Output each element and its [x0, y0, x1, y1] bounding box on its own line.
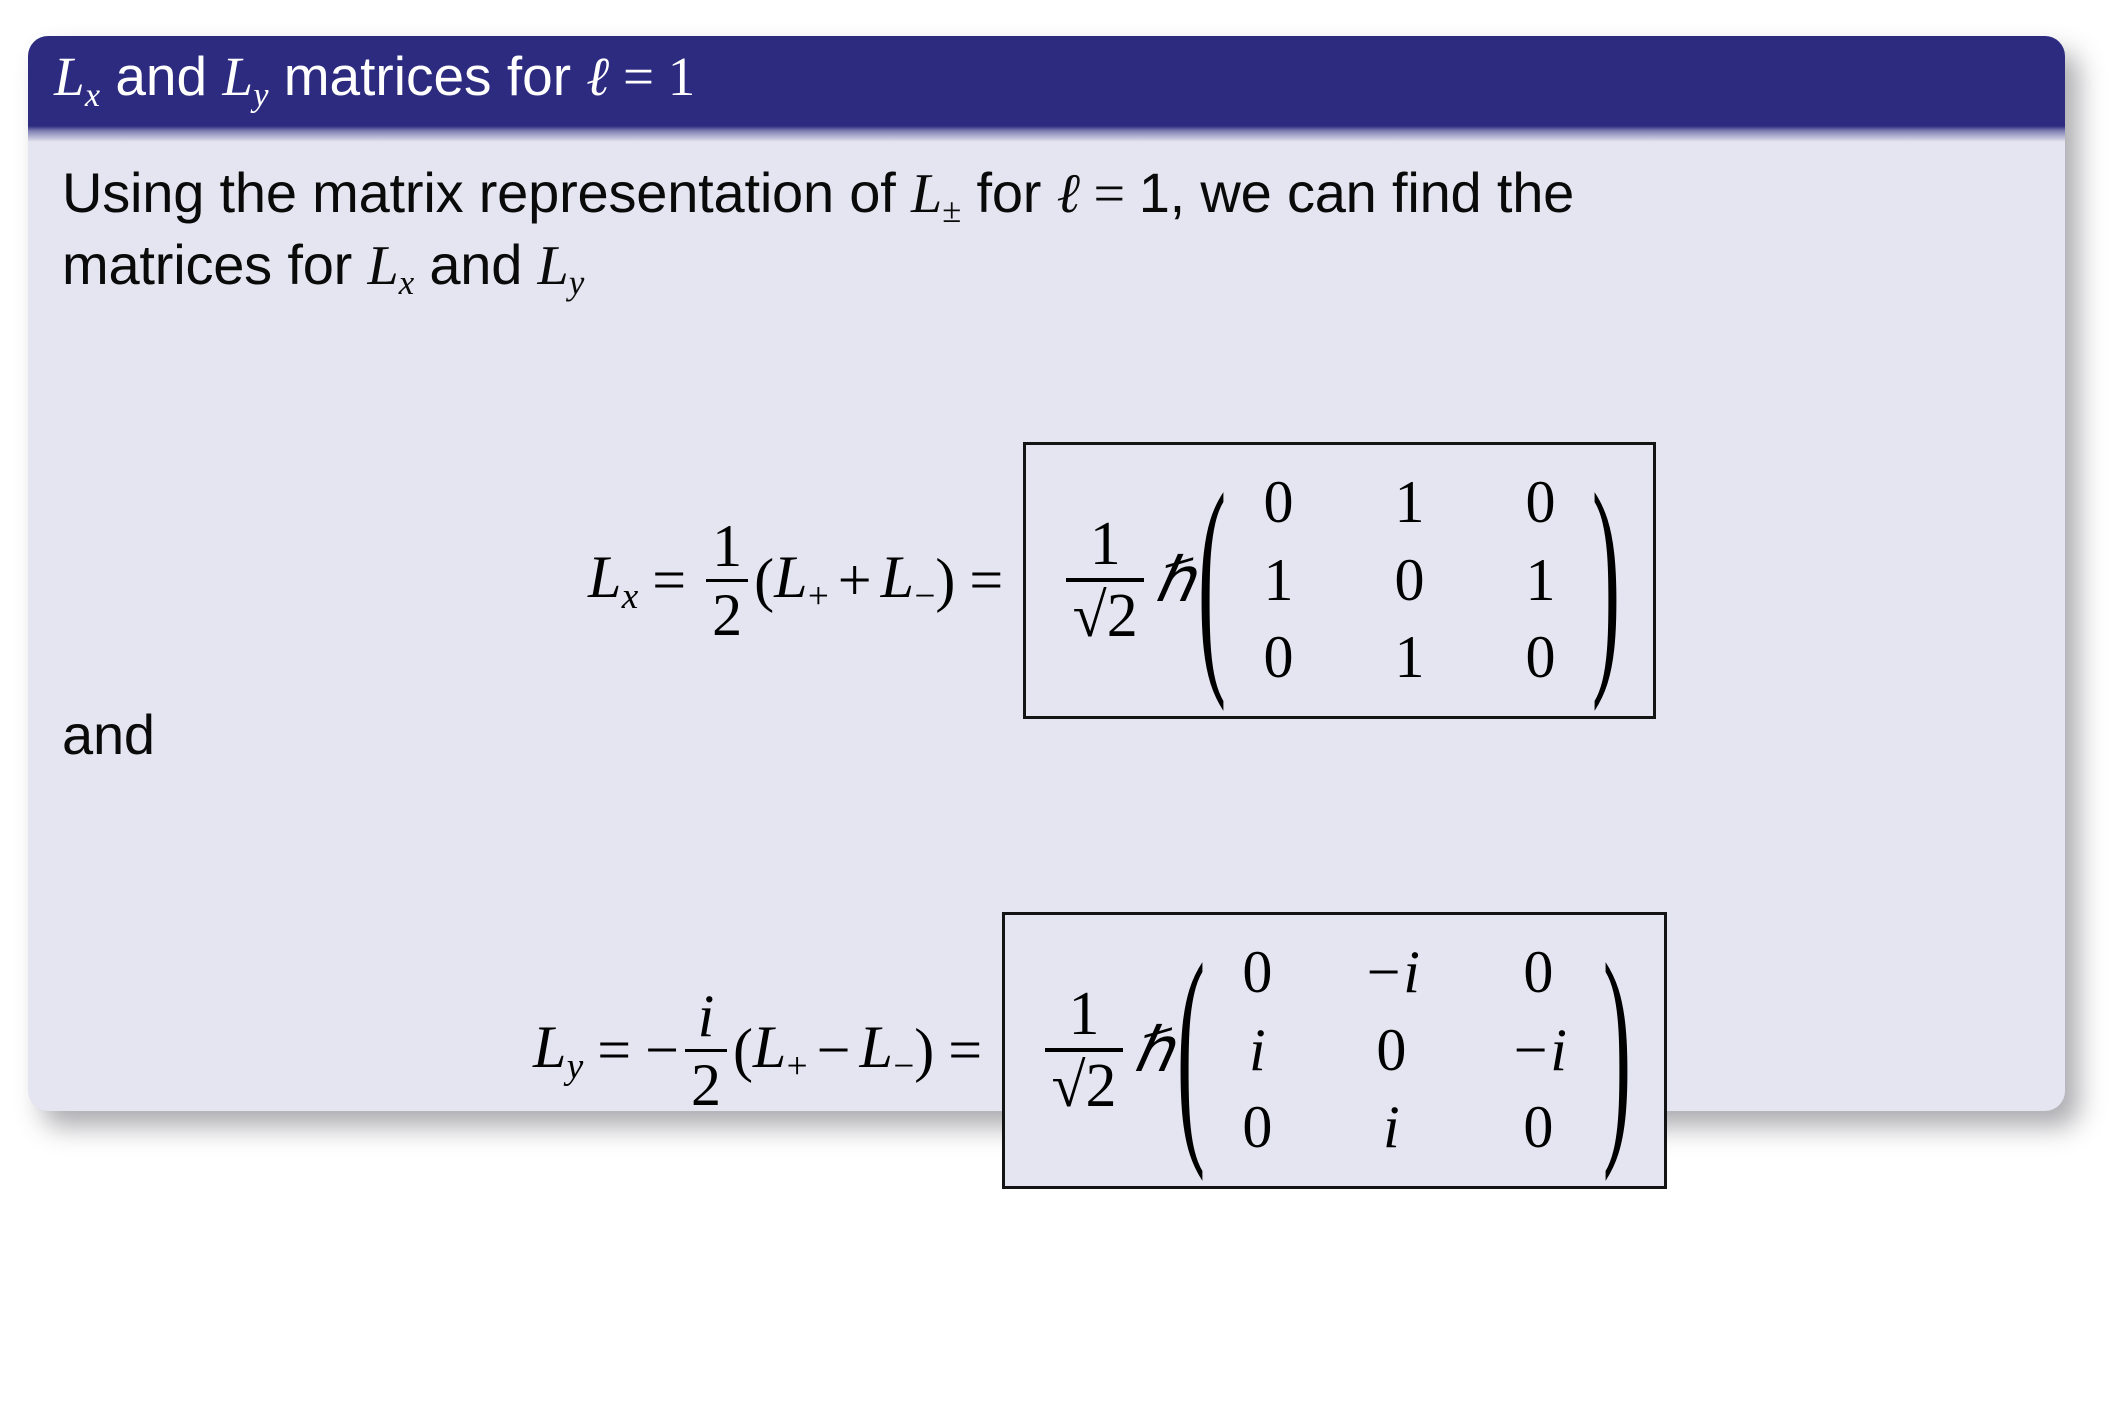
- ly-cell-r2c3: −i: [1486, 1019, 1590, 1083]
- lx-cell-r1c3: 0: [1501, 471, 1579, 535]
- lx-equals-2: =: [969, 546, 1003, 615]
- ly-L-plus: L+: [753, 1013, 808, 1088]
- lx-matrix-grid: 0 1 0 1 0 1 0 1 0: [1239, 471, 1579, 690]
- intro-text-part1: Using the matrix representation of: [62, 161, 911, 224]
- ly-frac-denominator: 2: [685, 1052, 727, 1115]
- intro-line2-and: and: [414, 233, 538, 296]
- lx-cell-r1c2: 1: [1361, 471, 1457, 535]
- lx-equals-1: =: [652, 546, 686, 615]
- intro-L-pm: L±: [911, 163, 961, 225]
- intro-equals: =: [1080, 163, 1139, 225]
- lx-cell-r1c1: 0: [1239, 471, 1317, 535]
- ly-matrix-right-paren: ): [1602, 684, 1633, 1417]
- ly-cell-r2c2: 0: [1336, 1019, 1446, 1083]
- ly-cell-r3c1: 0: [1218, 1096, 1296, 1160]
- ly-box-frac-denominator: √2: [1046, 1052, 1123, 1117]
- title-L-x: Lx: [54, 46, 100, 107]
- ly-close-paren: ): [914, 1016, 934, 1085]
- ly-L-minus: L−: [859, 1013, 914, 1088]
- ly-frac-numerator: i: [692, 986, 721, 1049]
- ly-box-frac-numerator: 1: [1063, 983, 1106, 1048]
- title-value-one: 1: [668, 46, 696, 107]
- lx-L-minus: L−: [881, 543, 936, 618]
- title-L-y: Ly: [222, 46, 268, 107]
- lx-cell-r3c2: 1: [1361, 626, 1457, 690]
- lx-close-paren: ): [935, 546, 955, 615]
- lx-L-plus: L+: [774, 543, 829, 618]
- ly-prefactor: 1 √2 ℏ: [1039, 983, 1178, 1117]
- ly-cell-r1c1: 0: [1218, 941, 1296, 1005]
- equation-lx-lhs: Lx = 1 2 (L+ + L−) =: [588, 516, 1017, 645]
- title-ell-symbol: ℓ: [586, 46, 609, 107]
- and-connector-text: and: [62, 702, 155, 768]
- block-title-text: Lx and Ly matrices for ℓ = 1: [54, 49, 695, 112]
- lx-prefactor: 1 √2 ℏ: [1060, 513, 1199, 647]
- lx-cell-r2c2: 0: [1361, 549, 1457, 613]
- lx-frac-denominator: 2: [706, 582, 748, 645]
- ly-cell-r1c2: −i: [1336, 941, 1446, 1005]
- title-conjunction: and: [100, 45, 222, 107]
- lx-one-over-root-two: 1 √2: [1066, 513, 1144, 647]
- equation-ly-lhs: Ly = − i 2 (L+ − L−) =: [533, 986, 996, 1115]
- intro-text-part2: for: [961, 161, 1056, 224]
- lx-boxed-result: 1 √2 ℏ ( 0 1 0 1 0 1 0: [1023, 442, 1656, 719]
- ly-hbar-symbol: ℏ: [1133, 1013, 1172, 1087]
- lx-cell-r3c3: 0: [1501, 626, 1579, 690]
- block-body: Using the matrix representation of L± fo…: [28, 142, 2065, 1111]
- lx-frac-numerator: 1: [706, 516, 748, 579]
- ly-open-paren: (: [733, 1016, 753, 1085]
- ly-one-over-root-two: 1 √2: [1045, 983, 1123, 1117]
- lx-cell-r2c1: 1: [1239, 549, 1317, 613]
- ly-cell-r3c2: i: [1336, 1096, 1446, 1160]
- lx-box-frac-denominator: √2: [1067, 582, 1144, 647]
- title-matrices-for: matrices for: [268, 45, 586, 107]
- title-bar-gradient-fade: [28, 126, 2065, 142]
- lx-cell-r3c1: 0: [1239, 626, 1317, 690]
- ly-matrix-left-paren: (: [1176, 684, 1207, 1417]
- ly-cell-r3c3: 0: [1486, 1096, 1590, 1160]
- lx-cell-r2c3: 1: [1501, 549, 1579, 613]
- intro-L-x: Lx: [367, 235, 414, 297]
- ly-matrix-grid: 0 −i 0 i 0 −i 0 i 0: [1218, 941, 1590, 1160]
- lx-matrix: ( 0 1 0 1 0 1 0 1 0 ): [1199, 471, 1619, 690]
- equation-ly: Ly = − i 2 (L+ − L−) = 1 √2: [533, 912, 1667, 1189]
- ly-cell-r1c3: 0: [1486, 941, 1590, 1005]
- title-equals: =: [609, 46, 668, 107]
- intro-L-y: Ly: [538, 235, 585, 297]
- equation-lx: Lx = 1 2 (L+ + L−) = 1 √2: [588, 442, 1656, 719]
- lx-hbar-symbol: ℏ: [1154, 543, 1193, 617]
- block-title-bar: Lx and Ly matrices for ℓ = 1: [28, 36, 2065, 126]
- ly-i-over-two-fraction: i 2: [685, 986, 727, 1115]
- lx-plus-operator: +: [838, 546, 872, 615]
- ly-symbol: Ly: [533, 1013, 583, 1088]
- ly-minus-operator: −: [817, 1016, 851, 1085]
- ly-boxed-result: 1 √2 ℏ ( 0 −i 0 i 0 −i 0: [1002, 912, 1667, 1189]
- ly-equals-2: =: [948, 1016, 982, 1085]
- ly-matrix: ( 0 −i 0 i 0 −i 0 i 0 ): [1178, 941, 1630, 1160]
- ly-equals-1: =: [597, 1016, 631, 1085]
- ly-leading-minus: −: [645, 1016, 679, 1085]
- lx-half-fraction: 1 2: [706, 516, 748, 645]
- lx-box-frac-numerator: 1: [1084, 513, 1127, 578]
- intro-line2-text: matrices for: [62, 233, 367, 296]
- lx-open-paren: (: [754, 546, 774, 615]
- ly-cell-r2c1: i: [1218, 1019, 1296, 1083]
- intro-ell-symbol: ℓ: [1057, 163, 1080, 225]
- lx-symbol: Lx: [588, 543, 638, 618]
- theorem-block: Lx and Ly matrices for ℓ = 1 Using the m…: [28, 36, 2065, 1111]
